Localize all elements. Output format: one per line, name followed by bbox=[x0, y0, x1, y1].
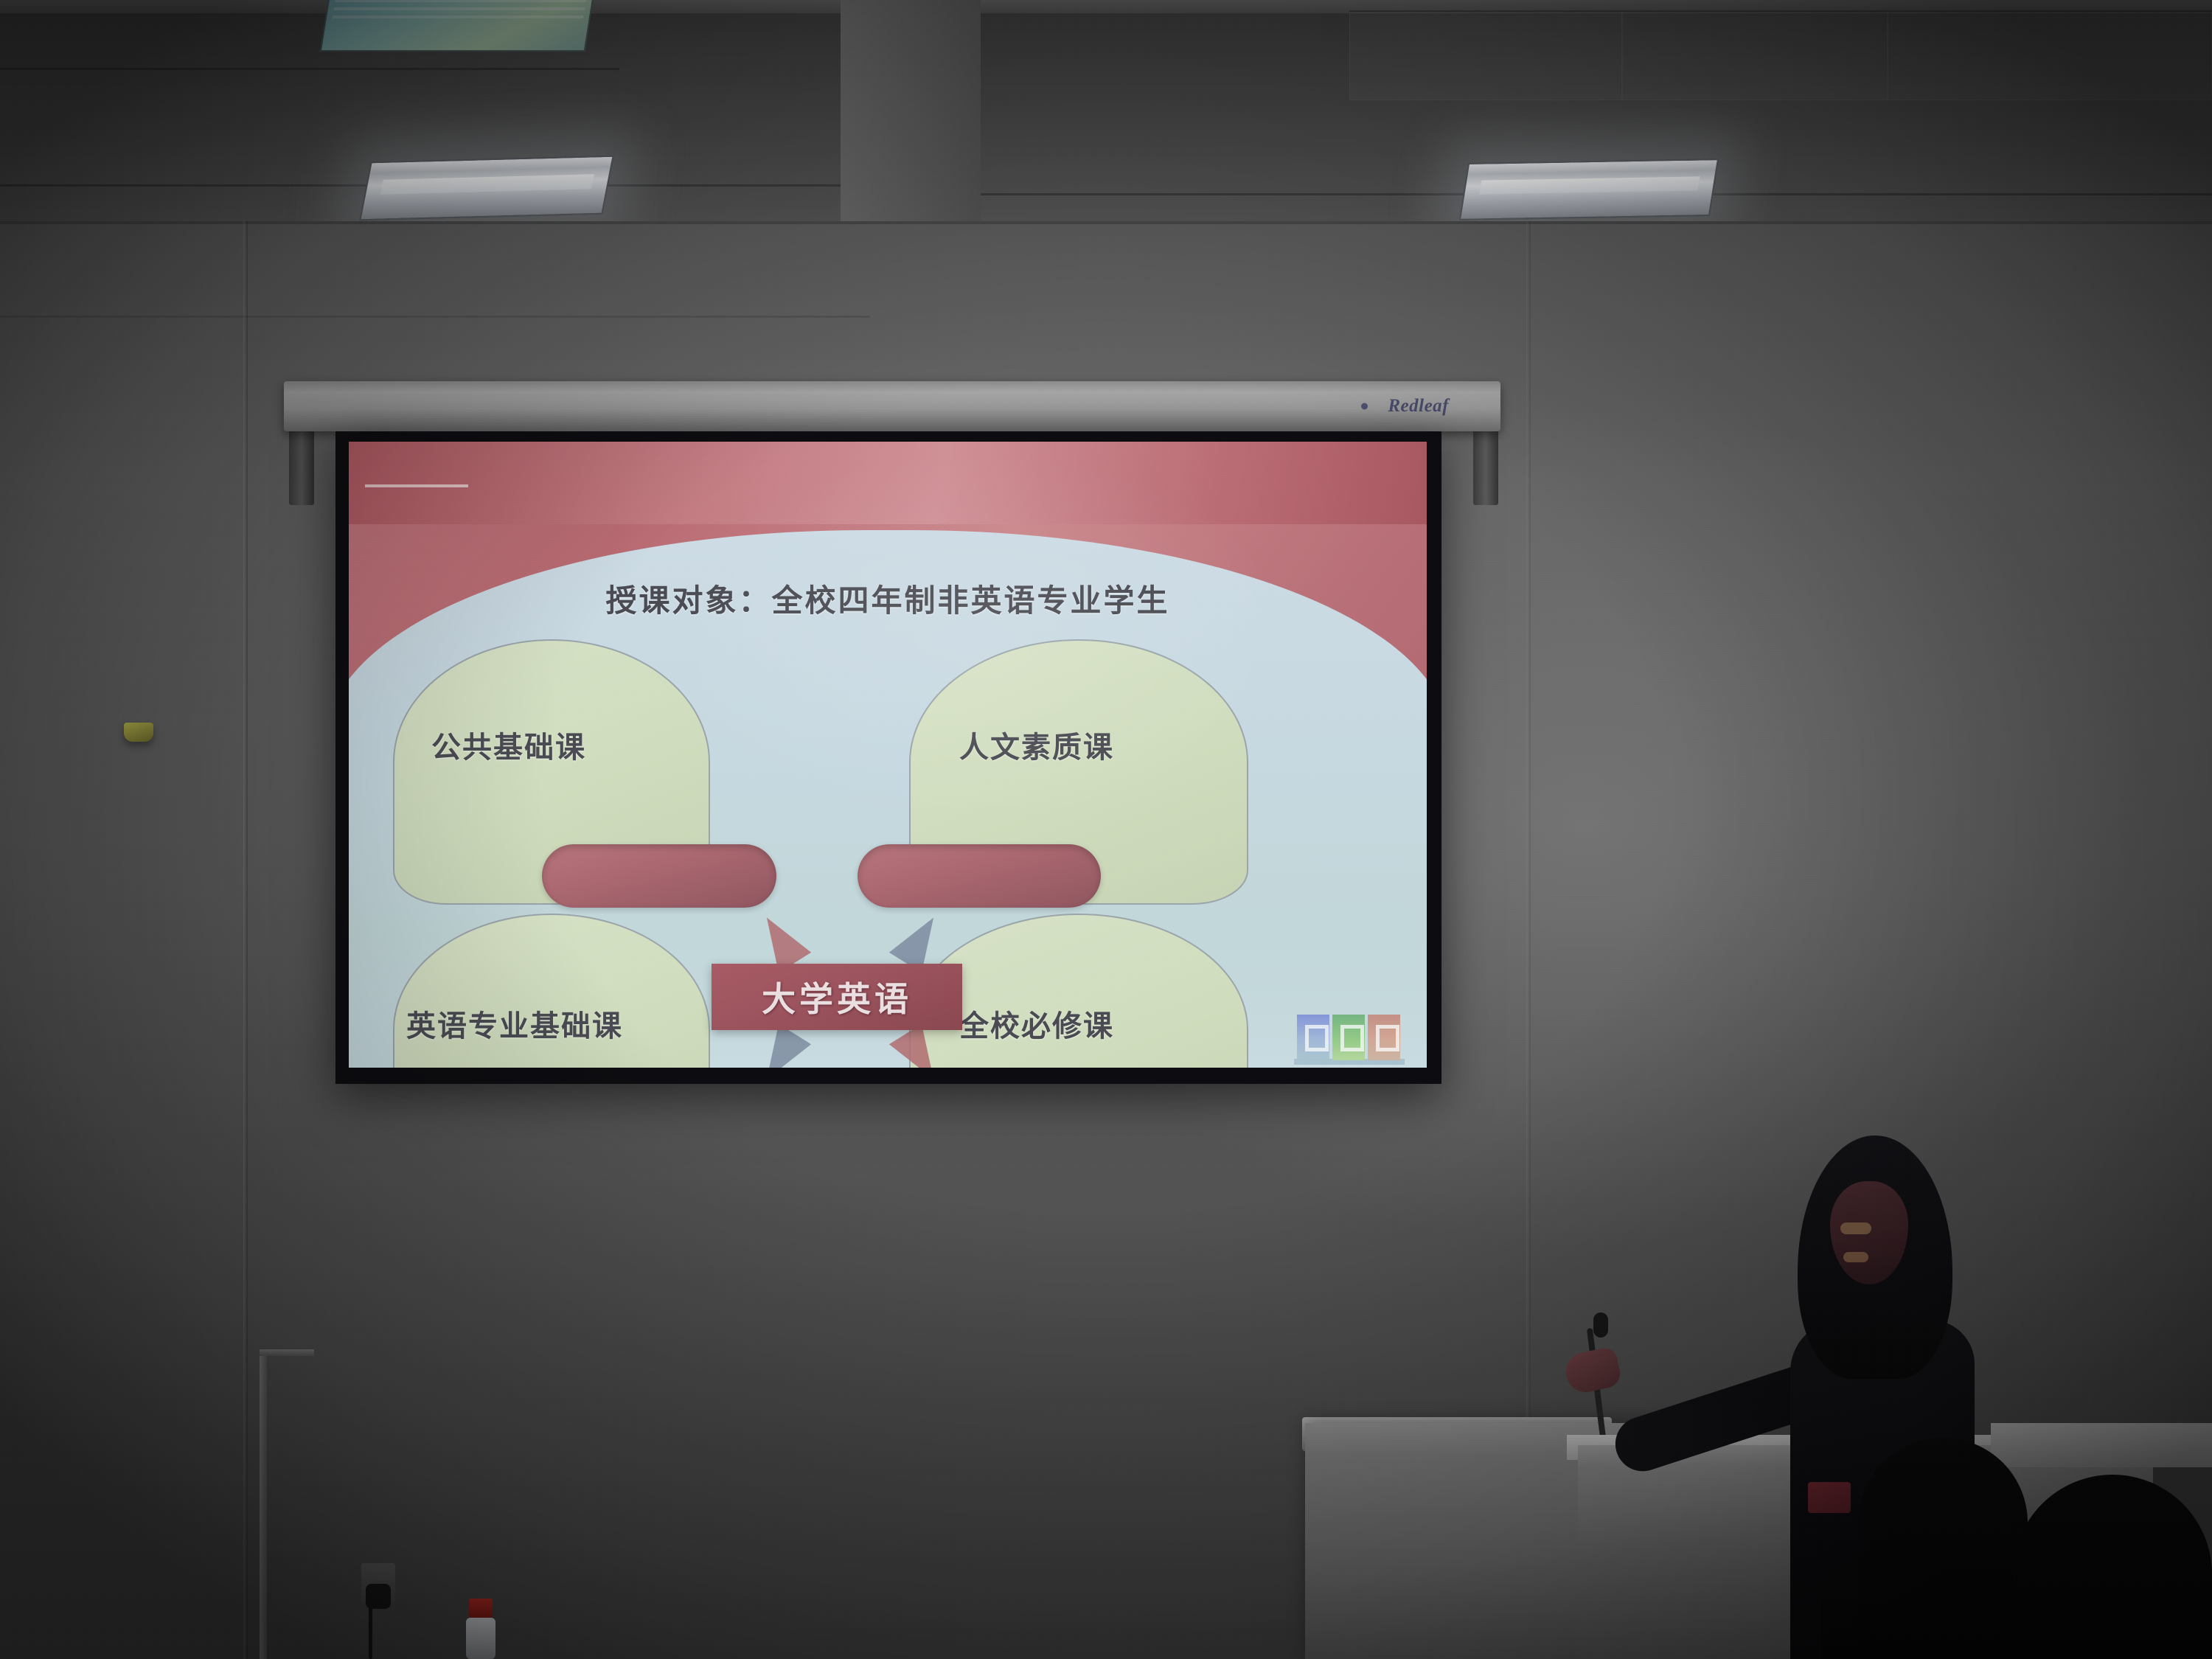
slide-label-bottom-right: 全校必修课 bbox=[959, 1002, 1114, 1045]
watermark-block-blue bbox=[1297, 1015, 1329, 1060]
wall-mounted-knob bbox=[124, 723, 153, 742]
air-vent-icon bbox=[320, 0, 595, 52]
slide-label-top-left: 公共基础课 bbox=[431, 723, 586, 766]
ceiling-light-right bbox=[1459, 159, 1719, 220]
wall-seam bbox=[0, 316, 870, 318]
power-plug-icon bbox=[366, 1584, 391, 1609]
water-bottle bbox=[465, 1599, 497, 1659]
slide-label-bottom-left: 英语专业基础课 bbox=[406, 1002, 623, 1045]
slide-title-band bbox=[349, 442, 1427, 524]
slide-label-top-right: 人文素质课 bbox=[959, 723, 1114, 766]
presenter-mouth bbox=[1843, 1252, 1868, 1262]
watermark-block-green bbox=[1332, 1015, 1365, 1060]
background-desk bbox=[1991, 1423, 2212, 1467]
wall-pipe-elbow bbox=[260, 1349, 314, 1356]
presenter-badge bbox=[1808, 1482, 1851, 1513]
slide-watermark-logo bbox=[1297, 1015, 1400, 1060]
ceiling bbox=[0, 0, 2212, 243]
screen-brand-label: Redleaf bbox=[1388, 396, 1449, 417]
projector-screen-roller: Redleaf bbox=[284, 381, 1500, 431]
wall-seam bbox=[0, 221, 2212, 224]
slide-center-node: 大学英语 bbox=[712, 964, 962, 1030]
ceiling-tile bbox=[1888, 12, 2212, 100]
slide-canvas: 一、 教材与学情分析 授课对象：全校四年制非英语专业学生 公共基础课 人文素质课… bbox=[349, 442, 1427, 1068]
projection-screen: 一、 教材与学情分析 授课对象：全校四年制非英语专业学生 公共基础课 人文素质课… bbox=[335, 431, 1441, 1084]
ceiling-grid-line bbox=[0, 68, 619, 70]
ceiling-tile bbox=[1622, 12, 1888, 100]
ceiling-tile bbox=[1349, 12, 1622, 100]
wall-edge bbox=[243, 221, 248, 1659]
ceiling-beam-vertical bbox=[841, 0, 981, 243]
screenshot-root: Redleaf 一、 教材与学情分析 授课对象：全校四年制非英语专业学生 公共基… bbox=[0, 0, 2212, 1659]
brand-dot-icon bbox=[1361, 403, 1368, 410]
watermark-block-rose bbox=[1368, 1015, 1400, 1060]
slide-subject-line: 授课对象：全校四年制非英语专业学生 bbox=[349, 576, 1427, 621]
slide-pill-2 bbox=[858, 844, 1101, 908]
slide-center-label: 大学英语 bbox=[762, 973, 912, 1021]
wall-pipe bbox=[260, 1349, 267, 1659]
audience-head-1 bbox=[1858, 1438, 2028, 1659]
presenter-eye bbox=[1840, 1222, 1871, 1234]
bottle-body bbox=[466, 1618, 495, 1659]
slide-pill-1 bbox=[542, 844, 776, 908]
bottle-cap bbox=[469, 1599, 493, 1618]
title-underline bbox=[365, 484, 468, 487]
microphone-head-icon bbox=[1593, 1312, 1608, 1338]
power-cord bbox=[369, 1606, 372, 1659]
ceiling-light-left bbox=[359, 156, 614, 221]
